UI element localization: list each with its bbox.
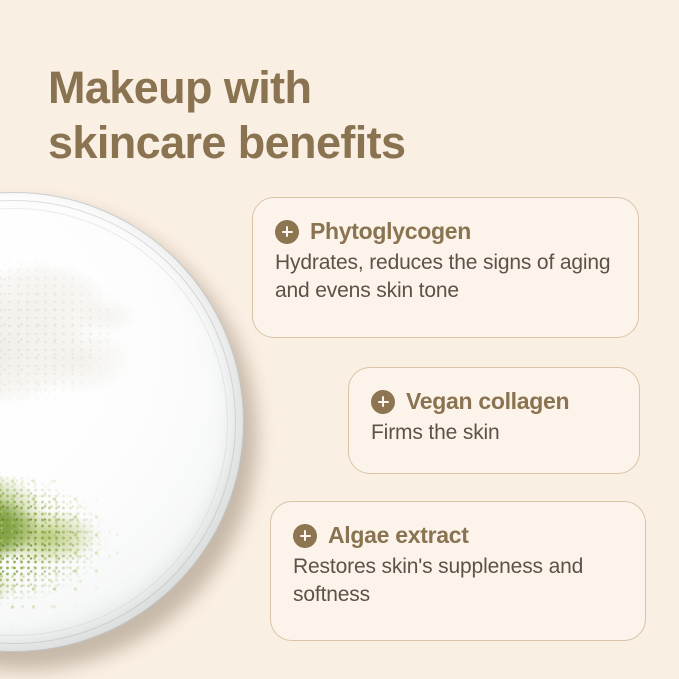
benefit-description: Hydrates, reduces the signs of aging and… — [275, 249, 622, 305]
plus-icon — [371, 390, 395, 414]
benefit-title-row: Phytoglycogen — [275, 218, 622, 245]
benefit-title: Vegan collagen — [406, 388, 569, 415]
white-powder-grain — [0, 210, 180, 460]
page-title-line-2: skincare benefits — [48, 115, 588, 170]
benefit-card-phytoglycogen: Phytoglycogen Hydrates, reduces the sign… — [252, 197, 639, 338]
plus-icon — [275, 220, 299, 244]
benefit-card-vegan-collagen: Vegan collagen Firms the skin — [348, 367, 640, 474]
benefit-description: Firms the skin — [371, 419, 623, 447]
benefit-title: Phytoglycogen — [310, 218, 471, 245]
benefit-description: Restores skin's suppleness and softness — [293, 553, 629, 609]
promo-graphic: Makeup with skincare benefits Phytoglyco… — [0, 0, 679, 679]
benefit-card-algae-extract: Algae extract Restores skin's suppleness… — [270, 501, 646, 641]
page-title-line-1: Makeup with — [48, 60, 588, 115]
plus-icon — [293, 524, 317, 548]
page-title: Makeup with skincare benefits — [48, 60, 588, 170]
benefit-title-row: Vegan collagen — [371, 388, 623, 415]
benefit-title: Algae extract — [328, 522, 469, 549]
benefit-title-row: Algae extract — [293, 522, 629, 549]
green-powder-spray — [0, 433, 150, 633]
